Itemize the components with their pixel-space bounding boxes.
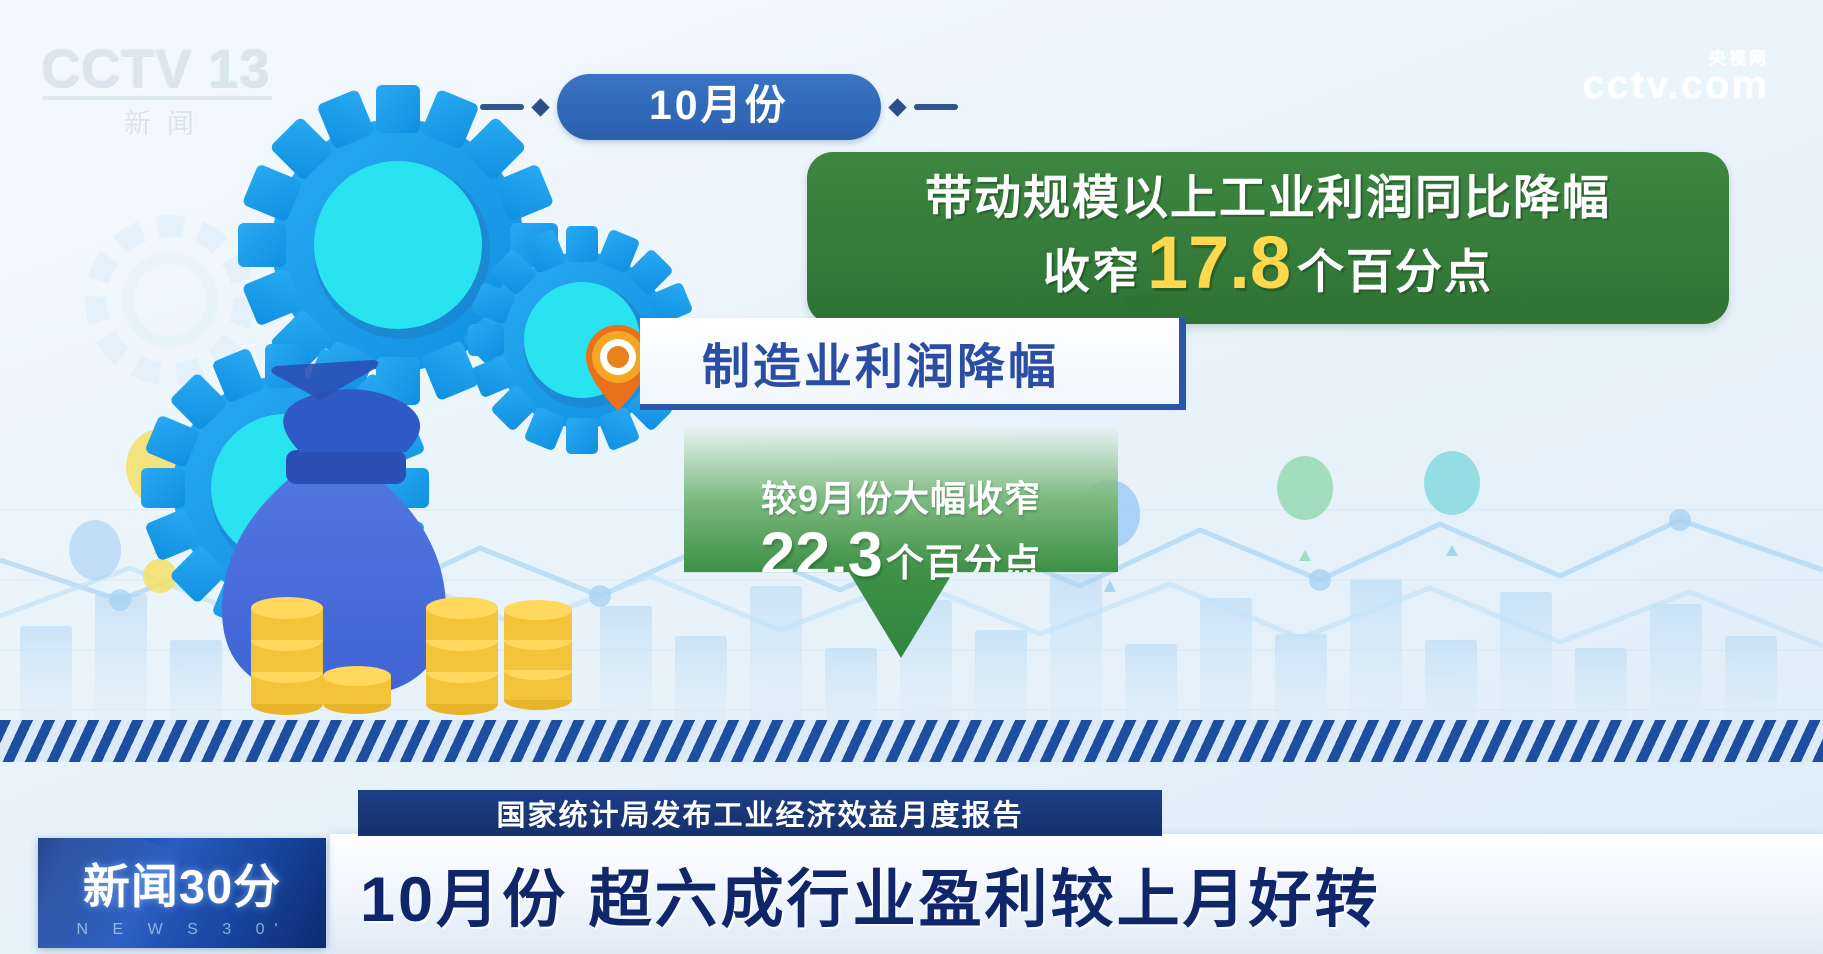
green-arrow-line1: 较9月份大幅收窄 [761,470,1041,522]
green-banner-number: 17.8 [1147,229,1291,297]
subtitle-text: 国家统计局发布工业经济效益月度报告 [496,792,1023,834]
dash-decoration-icon [480,104,524,110]
lower-third-banner: 10月份 超六成行业盈利较上月好转 国家统计局发布工业经济效益月度报告 新闻30… [0,762,1823,954]
balloon-icon [1424,451,1480,556]
diamond-decoration-icon [531,98,549,116]
gear-icon [141,344,429,632]
dash-decoration-icon [914,104,958,110]
broadcast-frame: CCTV 13 新闻 央视网 cctv.com 10月份 带动规模以上工业利润同… [0,0,1823,954]
coin-stack-icon [251,597,572,715]
subtitle-bar: 国家统计局发布工业经济效益月度报告 [358,790,1162,836]
headline-bar: 10月份 超六成行业盈利较上月好转 [330,834,1823,954]
white-banner-text: 制造业利润降幅 [702,327,1059,397]
industrial-profit-banner: 带动规模以上工业利润同比降幅 收窄 17.8 个百分点 [807,152,1729,324]
cctv13-logo-main: CCTV 13 [42,40,292,100]
balloon-icon [69,520,121,580]
green-arrow-line2: 22.3 个百分点 [760,526,1042,587]
cctv-com-watermark: 央视网 cctv.com [1583,44,1769,108]
green-banner-prefix: 收窄 [1043,233,1141,302]
program-logo-en: N E W S 3 0' [76,921,287,939]
cctv13-channel-logo: CCTV 13 新闻 [42,40,292,140]
white-banner-underline [640,404,1186,410]
headline-text: 10月份 超六成行业盈利较上月好转 [360,849,1381,940]
green-banner-line1: 带动规模以上工业利润同比降幅 [835,170,1701,225]
green-arrow-suffix: 个百分点 [886,532,1042,587]
green-banner-suffix: 个百分点 [1297,233,1493,302]
diamond-decoration-icon [888,98,906,116]
balloon-icon [126,429,194,593]
month-pill-label: 10月份 [557,74,881,140]
program-logo-cn: 新闻30分 [83,848,281,917]
month-header-group: 10月份 [480,74,958,140]
balloon-icon [1277,456,1333,561]
manufacturing-profit-banner: 制造业利润降幅 [640,318,1186,406]
cctv13-logo-sub: 新闻 [42,102,292,141]
diagonal-stripe-divider [0,720,1823,762]
watermark-en-label: cctv.com [1583,63,1769,107]
green-banner-line2: 收窄 17.8 个百分点 [835,229,1701,302]
ghost-gear-icon [96,226,244,374]
green-arrow-number: 22.3 [760,526,883,586]
program-logo-news30: 新闻30分 N E W S 3 0' [38,838,326,948]
money-bag-icon [222,360,446,698]
narrowing-arrow-callout: 较9月份大幅收窄 22.3 个百分点 [684,426,1118,658]
